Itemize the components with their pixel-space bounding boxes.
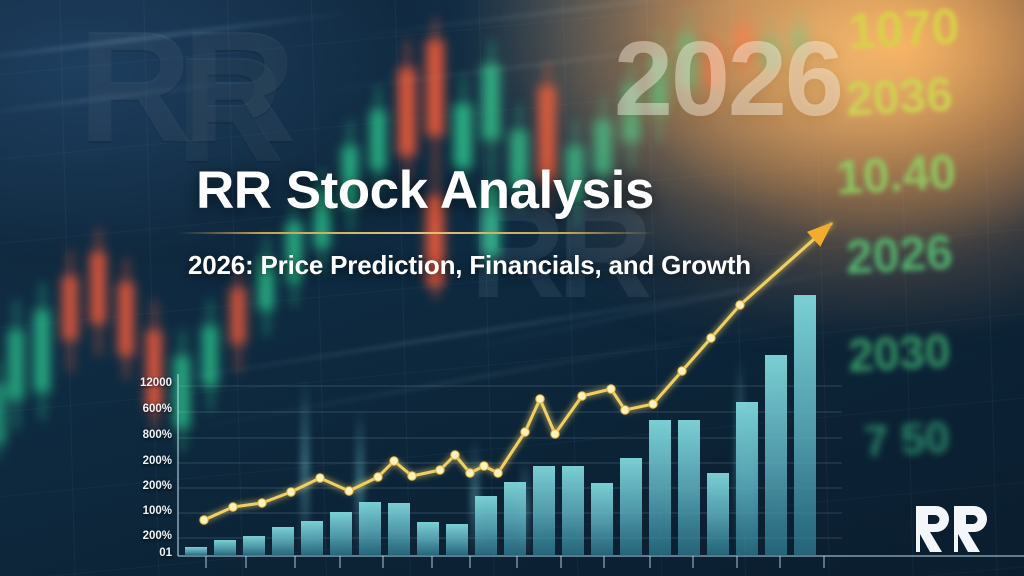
chart-bar [620,458,642,556]
chart-bar [272,527,294,556]
chart-data-point [390,457,398,465]
chart-bar [765,355,787,556]
chart-data-point [374,473,382,481]
chart-bar [794,295,816,556]
chart-y-axis-label: 200% [114,531,172,543]
chart-bar [388,503,410,556]
chart-data-point [345,487,353,495]
chart-data-point [578,392,586,400]
chart-bar [475,496,497,556]
chart-data-point [466,469,474,477]
chart-data-point [536,395,544,403]
chart-data-point [649,400,657,408]
chart-y-axis-label: 01 [114,548,172,560]
chart-bar [214,540,236,556]
promo-banner: RR R RR 2026 1070203610.40202620307 50 R… [0,0,1024,576]
chart-bar [185,547,207,556]
chart-data-point [316,474,324,482]
chart-bar [359,502,381,556]
chart-bar [649,420,671,556]
chart-bar [736,402,758,556]
chart-data-point [229,503,237,511]
chart-data-point [436,466,444,474]
chart-y-axis-label: 800% [114,430,172,442]
chart-data-point [678,367,686,375]
chart-data-point [621,406,629,414]
chart-y-axis-label: 12000 [114,378,172,390]
chart-data-point [494,469,502,477]
chart-data-point [408,472,416,480]
chart-bar [330,512,352,556]
chart-data-point [258,499,266,507]
chart-data-point [451,451,459,459]
chart-bar [591,483,613,556]
chart-y-axis-label: 100% [114,506,172,518]
chart-data-point [607,385,615,393]
chart-bar [417,522,439,556]
chart-data-point [707,334,715,342]
chart-bar [504,482,526,556]
chart-bar [562,466,584,556]
chart-bar-series [185,295,816,556]
chart-data-point [521,428,529,436]
chart-y-axis-label: 600% [114,404,172,416]
chart-bar [446,524,468,556]
chart-data-point [200,516,208,524]
chart-bar [533,466,555,556]
chart-y-axis-label: 200% [114,481,172,493]
rr-logo [914,504,1000,554]
chart-bar [301,521,323,556]
chart-data-point [736,301,744,309]
chart-y-axis-label: 200% [114,456,172,468]
chart-data-point [551,430,559,438]
chart-bar [707,473,729,556]
chart-data-point [480,462,488,470]
chart-bar [243,536,265,556]
chart-data-point [287,488,295,496]
chart-bar [678,420,700,556]
